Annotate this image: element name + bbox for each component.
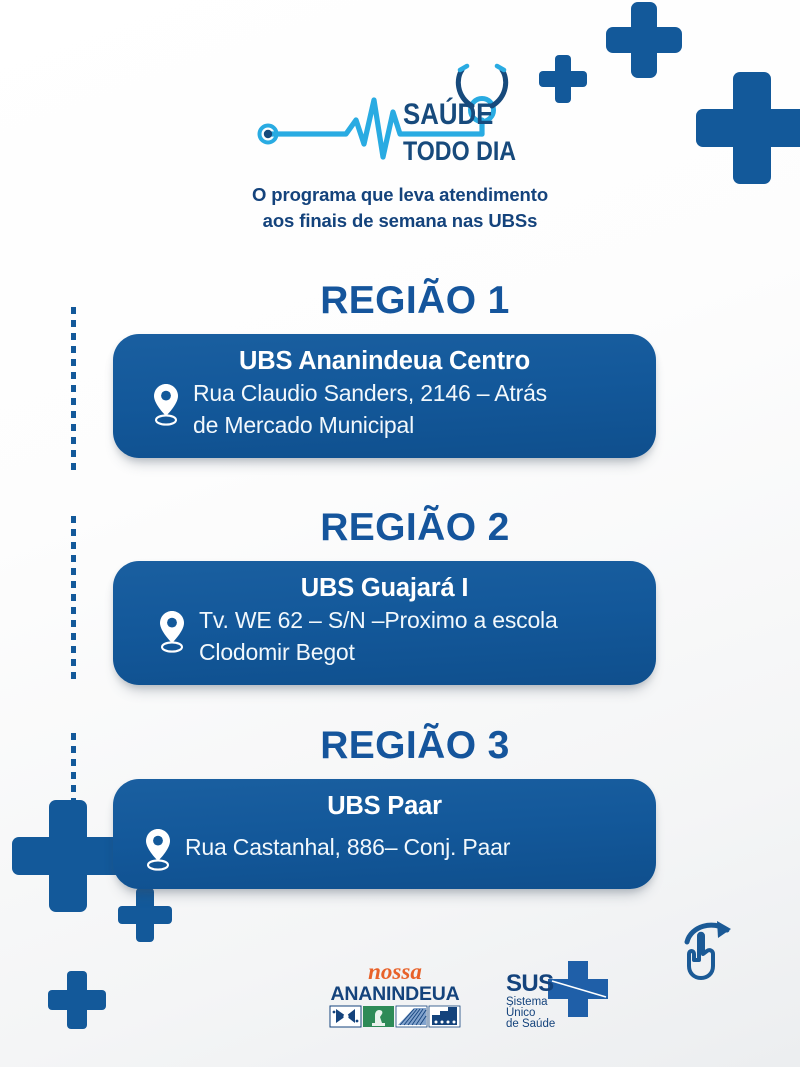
location-pin-icon: [157, 609, 187, 655]
sus-line3-text: de Saúde: [506, 1018, 555, 1029]
region-title: REGIÃO 3: [0, 726, 800, 765]
poster-header: SAÚDE TODO DIA O programa que leva atend…: [0, 62, 800, 235]
poster-canvas: SAÚDE TODO DIA O programa que leva atend…: [0, 0, 800, 1067]
ubs-card[interactable]: UBS Ananindeua Centro Rua Claudio Sander…: [113, 334, 656, 458]
sus-acronym-text: SUS: [506, 970, 554, 997]
region-title: REGIÃO 1: [0, 281, 800, 320]
program-subtitle-line2: aos finais de semana nas UBSs: [0, 208, 800, 234]
logo-tile-statue: [363, 1006, 394, 1027]
region-title: REGIÃO 2: [0, 508, 800, 547]
sus-logo: SUS Sistema Único de Saúde: [502, 955, 614, 1029]
region-block: REGIÃO 3 UBS Paar Rua Castanhal, 886– Co…: [0, 726, 800, 889]
brand-logo: SAÚDE TODO DIA: [250, 62, 550, 172]
ubs-address-line1: Rua Claudio Sanders, 2146 – Atrás: [193, 380, 547, 406]
logo-tile-industry: [429, 1006, 460, 1027]
program-subtitle-line1: O programa que leva atendimento: [0, 182, 800, 208]
ubs-address: Tv. WE 62 – S/N –Proximo a escola Clodom…: [199, 605, 558, 668]
region-block: REGIÃO 2 UBS Guajará I Tv. WE 62 – S/N –…: [0, 508, 800, 685]
ubs-address: Rua Claudio Sanders, 2146 – Atrás de Mer…: [193, 378, 547, 441]
cross-horizontal-bar: [118, 906, 172, 924]
nossa-ananindeua-logo: nossa ANANINDEUA: [322, 957, 468, 1029]
ubs-address-line1: Tv. WE 62 – S/N –Proximo a escola: [199, 607, 558, 633]
region-block: REGIÃO 1 UBS Ananindeua Centro Rua Claud…: [0, 281, 800, 458]
cross-horizontal-bar: [606, 27, 682, 52]
location-pin-icon: [151, 382, 181, 428]
decorative-cross-icon: [118, 888, 172, 942]
logo-word-saude: SAÚDE: [403, 97, 493, 130]
ubs-address-line2: de Mercado Municipal: [193, 412, 414, 438]
sus-cross-icon: [548, 961, 608, 1017]
ubs-address-row: Rua Castanhal, 886– Conj. Paar: [133, 823, 636, 873]
logo-tile-buildings: [396, 1006, 427, 1027]
ananindeua-word: ANANINDEUA: [330, 983, 459, 1005]
ubs-card[interactable]: UBS Paar Rua Castanhal, 886– Conj. Paar: [113, 779, 656, 889]
location-pin-icon: [143, 827, 173, 873]
logo-word-todo-dia: TODO DIA: [403, 136, 516, 166]
footer-logo-group: nossa ANANINDEUA: [322, 955, 614, 1029]
ubs-address-row: Tv. WE 62 – S/N –Proximo a escola Clodom…: [133, 605, 636, 668]
nossa-script-word: nossa: [368, 959, 422, 984]
ubs-address-row: Rua Claudio Sanders, 2146 – Atrás de Mer…: [133, 378, 636, 441]
heartbeat-stethoscope-icon: SAÚDE TODO DIA: [250, 62, 550, 172]
ubs-address-line1: Rua Castanhal, 886– Conj. Paar: [185, 834, 510, 860]
logo-tile-pattern: [330, 1006, 361, 1027]
ubs-name: UBS Ananindeua Centro: [133, 347, 636, 376]
ubs-name: UBS Paar: [133, 792, 636, 821]
poster-footer: nossa ANANINDEUA: [0, 951, 800, 1037]
ubs-address: Rua Castanhal, 886– Conj. Paar: [185, 832, 510, 864]
program-subtitle: O programa que leva atendimento aos fina…: [0, 182, 800, 235]
ubs-name: UBS Guajará I: [133, 574, 636, 603]
swipe-gesture-icon: [677, 914, 745, 982]
ubs-address-line2: Clodomir Begot: [199, 639, 355, 665]
ubs-card[interactable]: UBS Guajará I Tv. WE 62 – S/N –Proximo a…: [113, 561, 656, 685]
